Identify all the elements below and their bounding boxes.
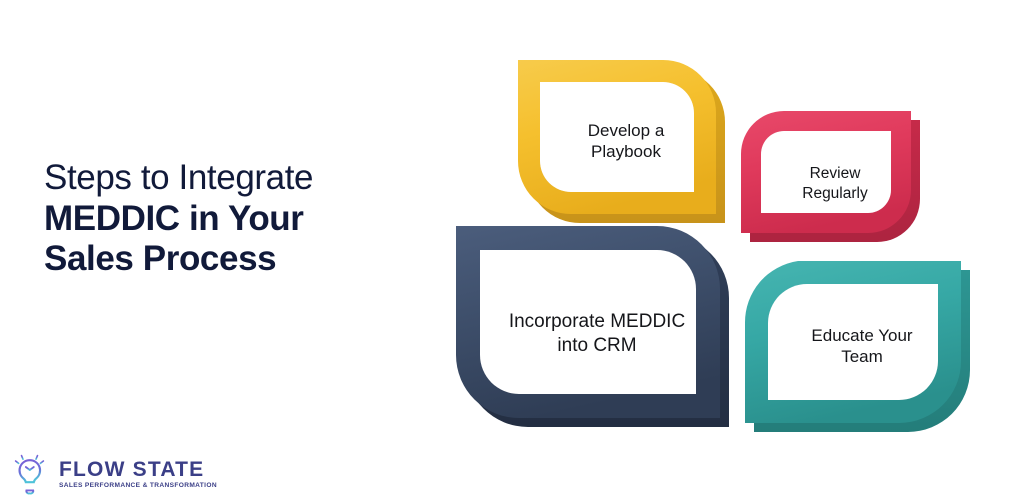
process-steps-diagram: Develop a Playbook	[0, 0, 1024, 503]
card-shape-teal	[745, 261, 979, 441]
lightbulb-icon	[10, 452, 50, 496]
logo-tagline: SALES PERFORMANCE & TRANSFORMATION	[59, 483, 217, 490]
card-shape-red	[741, 111, 929, 251]
logo-name: FLOW STATE	[59, 459, 217, 481]
infographic-canvas: Steps to Integrate MEDDIC in Your Sales …	[0, 0, 1024, 503]
logo-text-block: FLOW STATE SALES PERFORMANCE & TRANSFORM…	[59, 459, 217, 490]
step-card-develop-a-playbook[interactable]: Develop a Playbook	[518, 60, 734, 232]
card-shape-yellow	[518, 60, 734, 232]
step-card-review-regularly[interactable]: Review Regularly	[741, 111, 929, 251]
card-shape-navy	[456, 226, 738, 436]
step-card-educate-your-team[interactable]: Educate Your Team	[745, 261, 979, 441]
brand-logo[interactable]: FLOW STATE SALES PERFORMANCE & TRANSFORM…	[10, 452, 217, 496]
step-card-incorporate-meddic-into-crm[interactable]: Incorporate MEDDIC into CRM	[456, 226, 738, 436]
